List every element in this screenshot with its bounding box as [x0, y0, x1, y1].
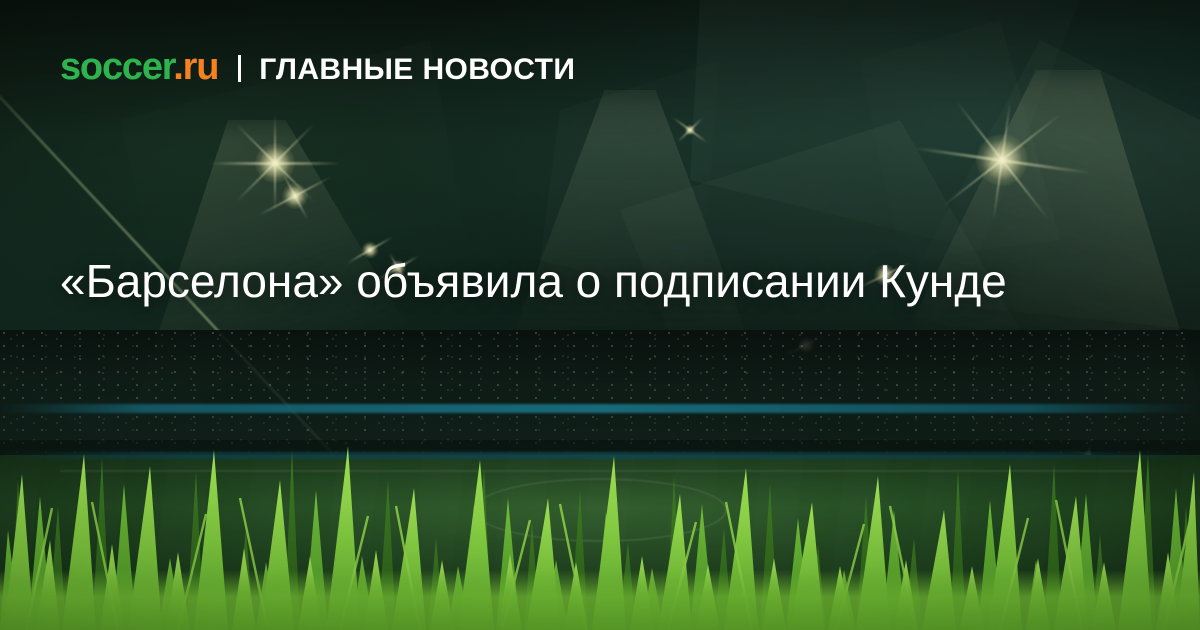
soccer-ru-logo[interactable]: soccer.ru	[60, 48, 218, 86]
logo-domain-part: .ru	[173, 46, 218, 88]
article-headline: «Барселона» объявила о подписании Кунде	[60, 252, 1150, 311]
header-separator-icon	[238, 55, 241, 82]
banner-header: soccer.ru ГЛАВНЫЕ НОВОСТИ	[60, 48, 575, 86]
logo-name-part: soccer	[60, 46, 173, 88]
crowd-upper-tier	[0, 330, 1200, 400]
grass-base-mass	[0, 570, 1200, 630]
foreground-grass	[0, 410, 1200, 630]
news-banner: soccer.ru ГЛАВНЫЕ НОВОСТИ «Барселона» об…	[0, 0, 1200, 630]
header-kicker-label: ГЛАВНЫЕ НОВОСТИ	[259, 55, 575, 85]
